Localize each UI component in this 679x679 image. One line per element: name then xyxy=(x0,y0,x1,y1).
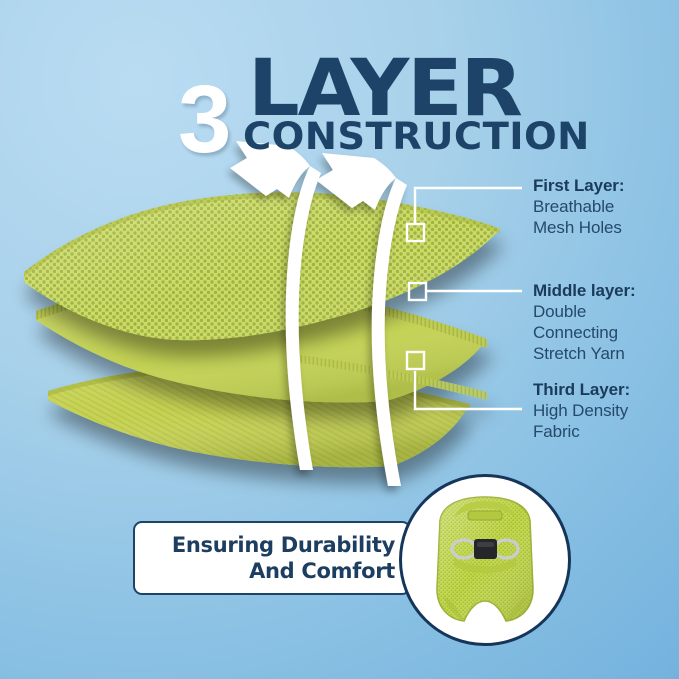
layer-label-middle-line2: Connecting xyxy=(533,322,636,343)
layer-label-first-line1: Breathable xyxy=(533,196,624,217)
title-sub: CONSTRUCTION xyxy=(243,118,590,155)
infographic-canvas: 3 LAYER CONSTRUCTION First Layer: Breath… xyxy=(0,0,679,679)
layer-label-middle-line1: Double xyxy=(533,301,636,322)
tagline-box: Ensuring Durability And Comfort xyxy=(133,521,411,595)
layer-label-third-heading: Third Layer: xyxy=(533,380,630,400)
title-number: 3 xyxy=(178,72,228,168)
mesh-dog-harness-icon xyxy=(402,477,568,643)
layer-label-third-line2: Fabric xyxy=(533,421,630,442)
tagline-line2: And Comfort xyxy=(135,558,395,584)
tagline-line1: Ensuring Durability xyxy=(135,532,395,558)
layer-label-third: Third Layer: High Density Fabric xyxy=(533,380,630,442)
page-title: 3 LAYER CONSTRUCTION xyxy=(0,38,679,148)
layer-label-first-heading: First Layer: xyxy=(533,176,624,196)
product-photo-circle xyxy=(399,474,571,646)
layer-label-middle-heading: Middle layer: xyxy=(533,281,636,301)
layer-label-third-line1: High Density xyxy=(533,400,630,421)
layer-label-middle: Middle layer: Double Connecting Stretch … xyxy=(533,281,636,364)
layer-label-first-line2: Mesh Holes xyxy=(533,217,624,238)
layer-label-middle-line3: Stretch Yarn xyxy=(533,343,636,364)
fabric-layer-first xyxy=(24,192,500,340)
layer-label-first: First Layer: Breathable Mesh Holes xyxy=(533,176,624,238)
